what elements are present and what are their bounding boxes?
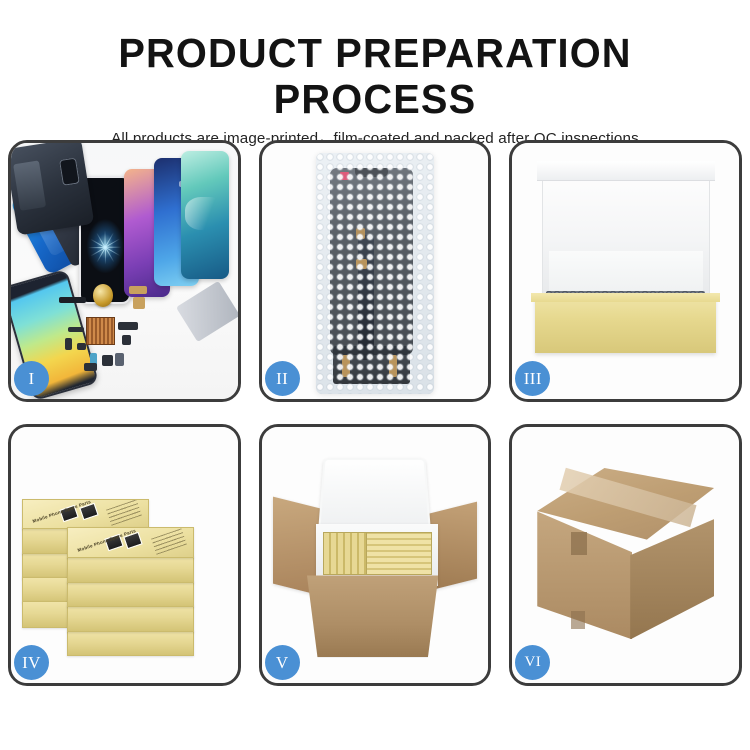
carton-body: [307, 575, 438, 657]
photo-inner-box-packing: [512, 143, 739, 399]
carton-tab-upper: [571, 532, 587, 555]
tool-icon: [176, 281, 237, 342]
step-panel-6[interactable]: VI: [509, 424, 742, 686]
yellow-box-tray: [535, 297, 716, 353]
step-panel-5[interactable]: V: [259, 424, 492, 686]
phone-back-housing-icon: [11, 143, 94, 236]
step-panel-3[interactable]: III: [509, 140, 742, 402]
box-lid-front: Mobile Phone Spare Parts: [67, 527, 193, 558]
box-stack: Mobile Phone Spare Parts Mobile Phone Sp…: [22, 458, 226, 663]
screen-burst-graphic: [86, 219, 124, 274]
product-preparation-poster: PRODUCT PREPARATION PROCESS All products…: [0, 0, 750, 750]
phone-teal-icon: [181, 151, 229, 279]
step-badge-5: V: [265, 645, 300, 680]
step-badge-2: II: [265, 361, 300, 396]
carton-tab-lower: [571, 611, 585, 629]
bubble-wrap-bag: [316, 153, 434, 394]
step-badge-4: IV: [14, 645, 49, 680]
speaker-coil-part-icon: [93, 284, 113, 307]
bubble-texture: [316, 153, 434, 394]
step-badge-1: I: [14, 361, 49, 396]
photo-boxes-stacked: Mobile Phone Spare Parts Mobile Phone Sp…: [11, 427, 238, 683]
box-lid-rear: Mobile Phone Spare Parts: [22, 499, 148, 530]
foam-lid: [318, 458, 430, 532]
step-panel-4[interactable]: Mobile Phone Spare Parts Mobile Phone Sp…: [8, 424, 241, 686]
header: PRODUCT PREPARATION PROCESS All products…: [0, 0, 750, 149]
photo-carton-loading: [262, 427, 489, 683]
copper-grid-part-icon: [86, 317, 115, 345]
step-panel-2[interactable]: II: [259, 140, 492, 402]
process-steps-grid: I II: [8, 140, 742, 686]
photo-carton-sealed: [512, 427, 739, 683]
photo-raw-components: [11, 143, 238, 399]
photo-bubble-wrapping: [262, 143, 489, 399]
inner-boxes-row-2: [366, 532, 432, 576]
page-title: PRODUCT PREPARATION PROCESS: [11, 30, 739, 122]
step-panel-1[interactable]: I: [8, 140, 241, 402]
